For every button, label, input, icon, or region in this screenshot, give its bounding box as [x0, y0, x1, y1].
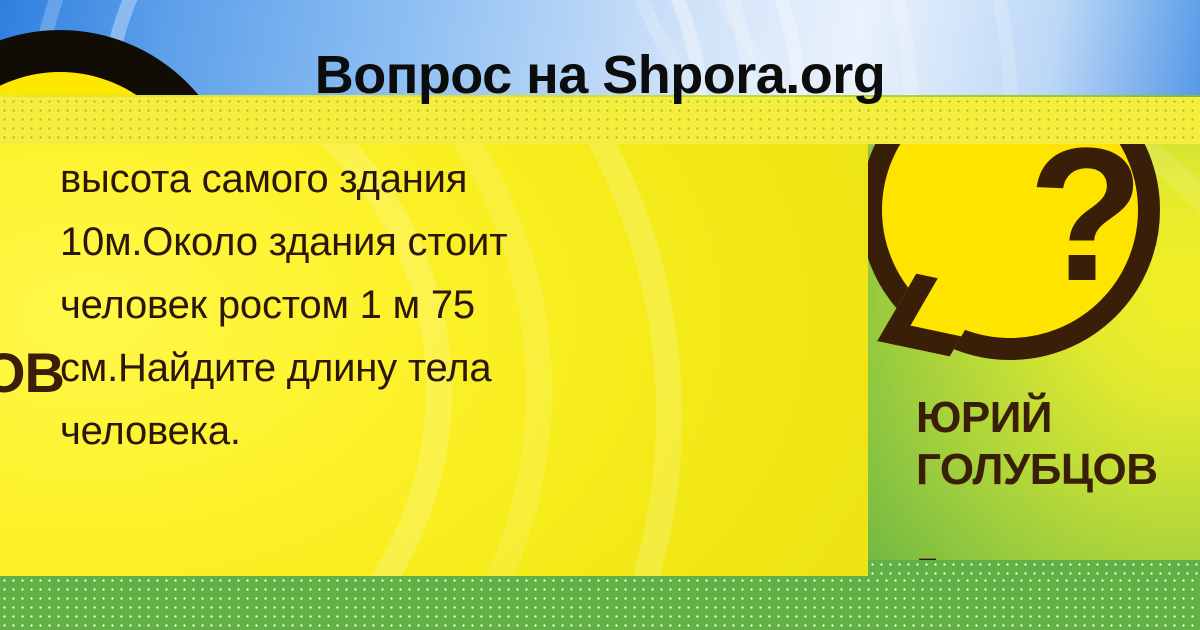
question-card: высота самого здания 10м.Около здания ст…: [0, 144, 868, 576]
author-name-fragment: ОВ: [0, 340, 64, 405]
screenshot-canvas: высота самого здания 10м.Около здания ст…: [0, 0, 1200, 630]
question-text: высота самого здания 10м.Около здания ст…: [60, 148, 760, 463]
green-dotted-overlay-band: [0, 576, 1200, 630]
author-name: ЮРИЙ ГОЛУБЦОВ: [916, 392, 1200, 496]
page-title: Вопрос на Shpora.org: [0, 44, 1200, 106]
author-card: ? ЮРИЙ ГОЛУБЦОВ Геометрия https://shpora…: [868, 134, 1200, 576]
question-mark-glyph-icon: ?: [1028, 134, 1144, 310]
